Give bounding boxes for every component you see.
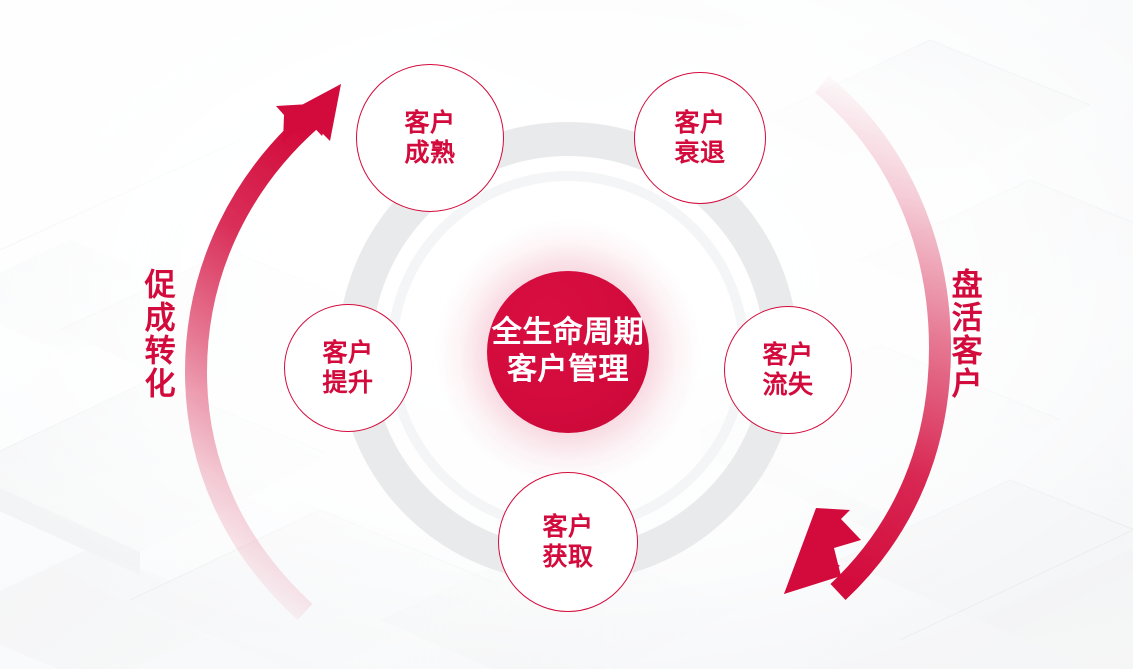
node-label-customer-acquisition: 客户 获取 <box>542 512 593 572</box>
node-customer-churn[interactable]: 客户 流失 <box>724 306 852 434</box>
node-customer-decline[interactable]: 客户 衰退 <box>634 72 766 204</box>
node-label-customer-maturity: 客户 成熟 <box>404 108 455 168</box>
node-label-customer-churn: 客户 流失 <box>762 340 813 400</box>
diagram-canvas: 全生命周期 客户管理 客户 成熟 客户 衰退 客户 提升 客户 流失 客户 获取… <box>0 0 1133 669</box>
node-customer-acquisition[interactable]: 客户 获取 <box>498 472 638 612</box>
center-hub[interactable]: 全生命周期 客户管理 <box>487 271 649 433</box>
center-hub-label: 全生命周期 客户管理 <box>492 315 645 388</box>
left-arc-label: 促成转化 <box>137 268 177 400</box>
node-label-customer-upgrade: 客户 提升 <box>322 338 373 398</box>
node-customer-maturity[interactable]: 客户 成熟 <box>356 64 504 212</box>
node-label-customer-decline: 客户 衰退 <box>674 108 725 168</box>
node-customer-upgrade[interactable]: 客户 提升 <box>284 304 412 432</box>
right-arc-label: 盘活客户 <box>944 268 984 400</box>
